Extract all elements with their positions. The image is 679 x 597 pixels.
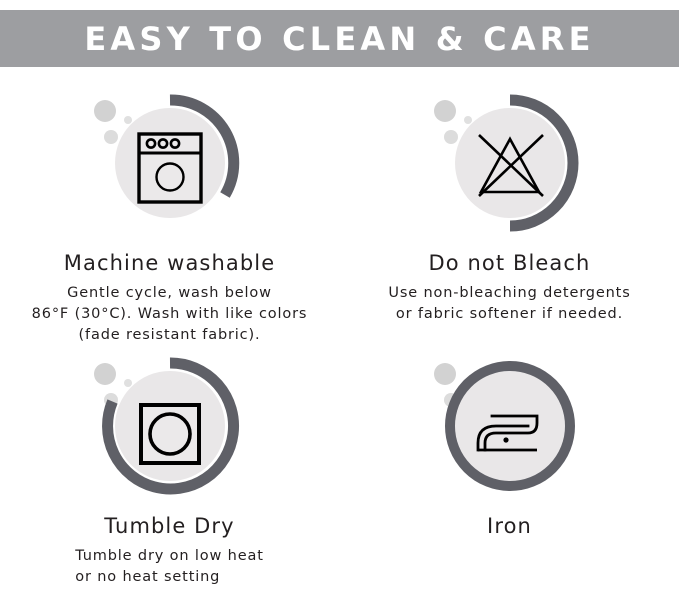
panel-body: Tumble dry on low heat or no heat settin… [75, 546, 264, 588]
tumble-dry-icon [95, 354, 245, 504]
panel-body-line: 86°F (30°C). Wash with like colors [0, 304, 339, 325]
washing-machine-icon [95, 91, 245, 241]
iron-icon [435, 354, 585, 504]
no-bleach-triangle-icon [435, 91, 585, 241]
care-panel-do-not-bleach: Do not Bleach Use non-bleaching detergen… [340, 75, 679, 334]
page-title: EASY TO CLEAN & CARE [84, 23, 594, 55]
panel-body: Gentle cycle, wash below 86°F (30°C). Wa… [0, 283, 339, 346]
care-instructions-grid: Machine washable Gentle cycle, wash belo… [0, 75, 679, 593]
panel-title: Do not Bleach [340, 251, 679, 276]
icon-medallion [415, 83, 605, 243]
panel-caption: Machine washable Gentle cycle, wash belo… [0, 251, 339, 346]
panel-body-line: Gentle cycle, wash below [0, 283, 339, 304]
care-panel-iron: Iron [340, 338, 679, 597]
panel-caption: Iron [340, 514, 679, 539]
panel-body-line: or fabric softener if needed. [340, 304, 679, 325]
iron-dot-icon [503, 437, 508, 442]
panel-body-line: or no heat setting [75, 567, 264, 588]
panel-caption: Do not Bleach Use non-bleaching detergen… [340, 251, 679, 325]
icon-medallion [75, 83, 265, 243]
icon-medallion [75, 346, 265, 506]
care-panel-machine-washable: Machine washable Gentle cycle, wash belo… [0, 75, 339, 334]
panel-caption: Tumble Dry Tumble dry on low heat or no … [0, 514, 339, 588]
panel-title: Machine washable [0, 251, 339, 276]
header-banner: EASY TO CLEAN & CARE [0, 10, 679, 67]
panel-title: Tumble Dry [0, 514, 339, 539]
icon-medallion [415, 346, 605, 506]
panel-title: Iron [340, 514, 679, 539]
panel-body: Use non-bleaching detergents or fabric s… [340, 283, 679, 325]
panel-body-line: Use non-bleaching detergents [340, 283, 679, 304]
care-panel-tumble-dry: Tumble Dry Tumble dry on low heat or no … [0, 338, 339, 597]
panel-body-line: Tumble dry on low heat [75, 546, 264, 567]
